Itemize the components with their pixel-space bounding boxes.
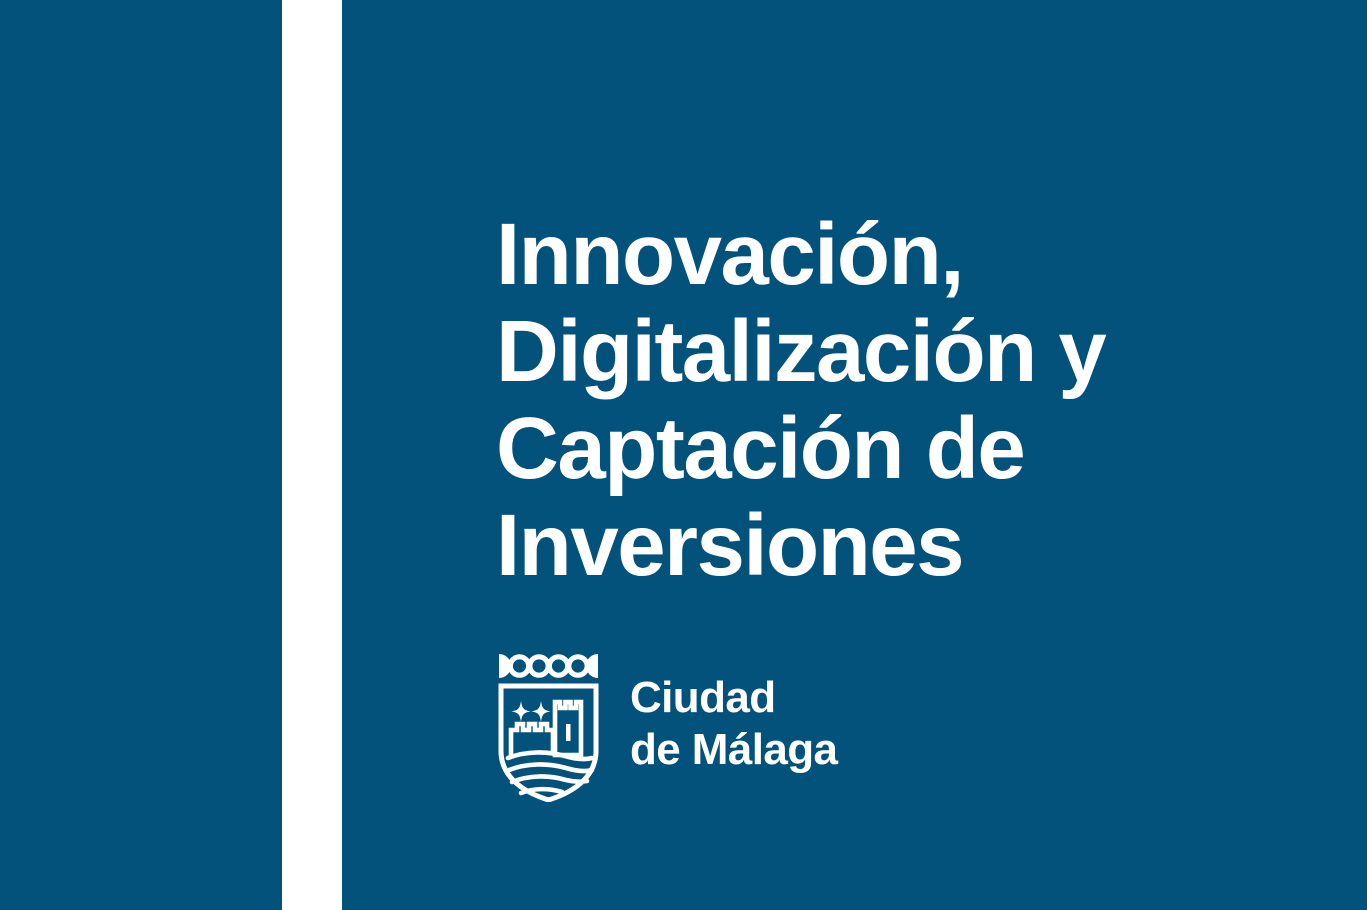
white-gutter-divider (282, 0, 342, 910)
title-line-3: Captación de (496, 400, 1216, 497)
title-line-1: Innovación, (496, 206, 1216, 303)
title-line-4: Inversiones (496, 497, 1216, 594)
slide-canvas: Innovación, Digitalización y Captación d… (0, 0, 1367, 910)
logo-wordmark-line-1: Ciudad (630, 672, 837, 724)
logo-wordmark: Ciudad de Málaga (630, 672, 837, 782)
title-line-2: Digitalización y (496, 303, 1216, 400)
page-title: Innovación, Digitalización y Captación d… (496, 206, 1216, 594)
star-icon-1 (511, 701, 530, 722)
star-icon-2 (531, 701, 550, 722)
malaga-logo-lockup: Ciudad de Málaga (495, 652, 837, 802)
left-blue-band (0, 0, 282, 910)
logo-wordmark-line-2: de Málaga (630, 724, 837, 776)
malaga-city-crest-icon (495, 652, 602, 802)
